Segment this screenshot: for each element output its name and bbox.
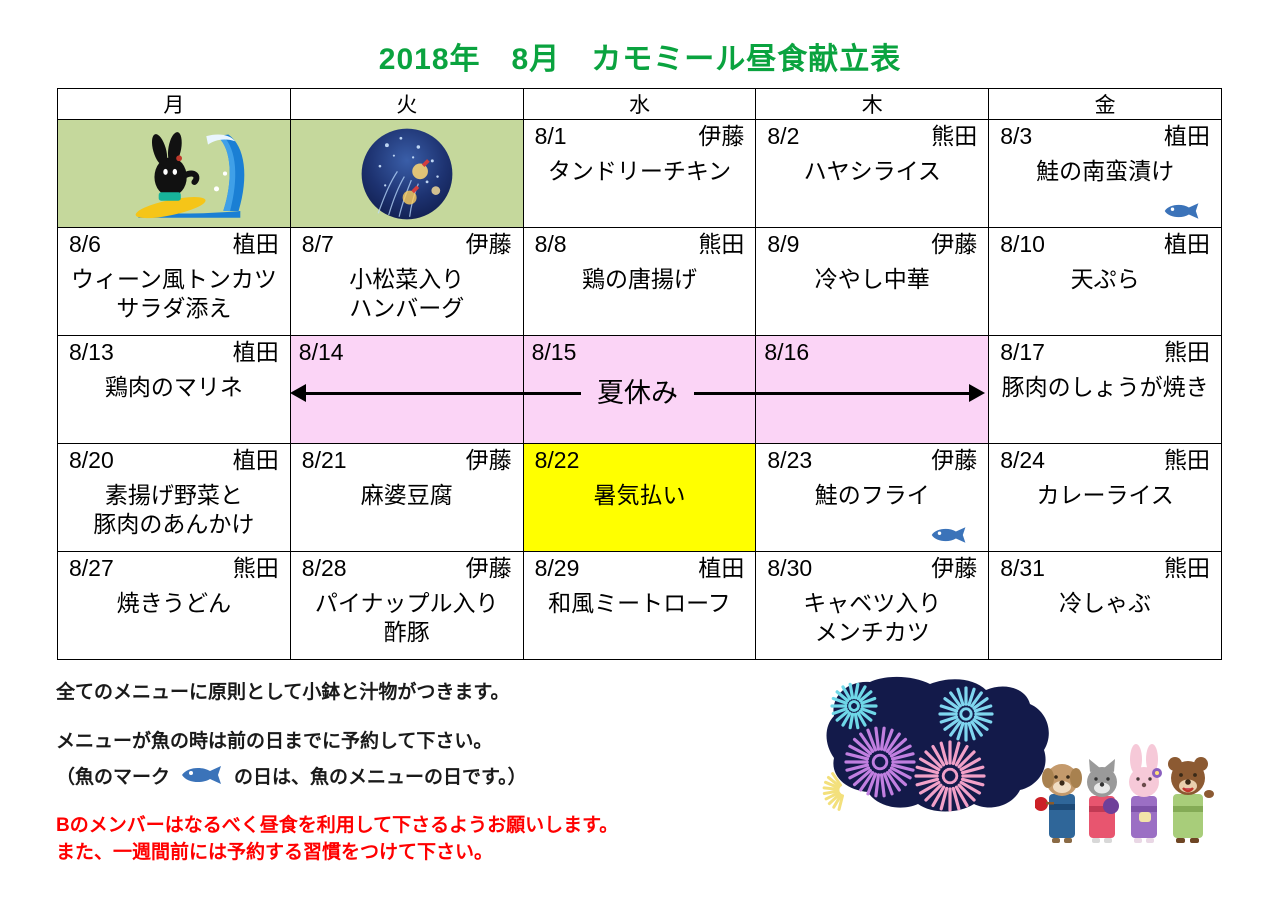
cell-header: 8/21伊藤 <box>291 444 523 475</box>
calendar-day-cell: 8/10植田天ぷら <box>989 228 1222 336</box>
calendar-day-cell: 8/21伊藤麻婆豆腐 <box>290 444 523 552</box>
calendar-day-cell: 8/7伊藤小松菜入り ハンバーグ <box>290 228 523 336</box>
cell-header: 8/24熊田 <box>989 444 1221 475</box>
calendar-day-cell: 8/30伊藤キャベツ入り メンチカツ <box>756 552 989 660</box>
cell-staff-name: 熊田 <box>233 554 279 583</box>
cell-staff-name: 植田 <box>233 446 279 475</box>
calendar-week-row: 8/20植田素揚げ野菜と 豚肉のあんかけ8/21伊藤麻婆豆腐8/22暑気払い8/… <box>58 444 1222 552</box>
calendar-day-cell: 8/16 <box>756 336 989 444</box>
cell-date: 8/22 <box>535 446 580 475</box>
cell-header: 8/31熊田 <box>989 552 1221 583</box>
cat-character <box>1087 759 1119 843</box>
calendar-day-cell: 8/17熊田豚肉のしょうが焼き <box>989 336 1222 444</box>
menu-calendar-table: 月 火 水 木 金 8/1伊藤タンドリーチキン8/2熊田ハヤシライス8/3植田鮭… <box>57 88 1222 660</box>
cell-header: 8/8熊田 <box>524 228 756 259</box>
fish-icon <box>1163 202 1201 220</box>
footer-notes: 全てのメニューに原則として小鉢と汁物がつきます。 メニューが魚の時は前の日までに… <box>56 680 816 867</box>
cell-header: 8/20植田 <box>58 444 290 475</box>
note-kobachi-shirumono: 全てのメニューに原則として小鉢と汁物がつきます。 <box>56 680 816 707</box>
cell-date: 8/3 <box>1000 122 1032 151</box>
cell-menu-text: ハヤシライス <box>756 151 988 186</box>
cell-staff-name: 植田 <box>1164 230 1210 259</box>
note-b-member-request: Bのメンバーはなるべく昼食を利用して下さるようお願いします。 また、一週間前には… <box>56 813 816 867</box>
cell-menu-text: カレーライス <box>989 475 1221 510</box>
weekday-header-fri: 金 <box>989 89 1222 120</box>
yukata-animals-illustration <box>1035 742 1235 852</box>
cell-header: 8/16 <box>756 336 988 367</box>
weekday-header-thu: 木 <box>756 89 989 120</box>
calendar-decorative-cell <box>58 120 291 228</box>
calendar-day-cell: 8/1伊藤タンドリーチキン <box>523 120 756 228</box>
cell-header: 8/9伊藤 <box>756 228 988 259</box>
calendar-day-cell: 8/3植田鮭の南蛮漬け <box>989 120 1222 228</box>
cell-header: 8/15 <box>524 336 756 367</box>
dog-character <box>1035 764 1082 843</box>
cell-date: 8/8 <box>535 230 567 259</box>
cell-staff-name: 熊田 <box>1164 338 1210 367</box>
cell-date: 8/15 <box>532 338 577 367</box>
cell-staff-name: 熊田 <box>1164 554 1210 583</box>
cell-header: 8/27熊田 <box>58 552 290 583</box>
cell-header: 8/2熊田 <box>756 120 988 151</box>
cell-header: 8/6植田 <box>58 228 290 259</box>
surfing-rabbit-illustration <box>58 120 290 227</box>
calendar-day-cell: 8/23伊藤鮭のフライ <box>756 444 989 552</box>
cell-header: 8/7伊藤 <box>291 228 523 259</box>
calendar-day-cell: 8/8熊田鶏の唐揚げ <box>523 228 756 336</box>
weekday-header-row: 月 火 水 木 金 <box>58 89 1222 120</box>
calendar-day-cell: 8/14 <box>290 336 523 444</box>
cell-header: 8/30伊藤 <box>756 552 988 583</box>
cell-staff-name: 伊藤 <box>466 230 512 259</box>
calendar-day-cell: 8/29植田和風ミートローフ <box>523 552 756 660</box>
cell-menu-text <box>524 367 756 373</box>
cell-staff-name: 伊藤 <box>931 446 977 475</box>
calendar-day-cell: 8/15 <box>523 336 756 444</box>
cell-date: 8/17 <box>1000 338 1045 367</box>
note-fish-mark-prefix: （魚のマーク <box>56 762 170 789</box>
fireworks-night-circle-illustration <box>291 120 523 227</box>
cell-menu-text: 豚肉のしょうが焼き <box>989 367 1221 402</box>
cell-staff-name: 熊田 <box>931 122 977 151</box>
cell-date: 8/27 <box>69 554 114 583</box>
cell-menu-text: 天ぷら <box>989 259 1221 294</box>
cell-header: 8/28伊藤 <box>291 552 523 583</box>
fish-icon <box>930 526 968 544</box>
cell-date: 8/7 <box>302 230 334 259</box>
cell-menu-text: 小松菜入り ハンバーグ <box>291 259 523 323</box>
calendar-day-cell: 8/6植田ウィーン風トンカツ サラダ添え <box>58 228 291 336</box>
cell-menu-text: 鮭のフライ <box>756 475 988 510</box>
cell-date: 8/2 <box>767 122 799 151</box>
cell-date: 8/30 <box>767 554 812 583</box>
cell-menu-text: 暑気払い <box>524 475 756 510</box>
cell-menu-text: キャベツ入り メンチカツ <box>756 583 988 647</box>
cell-date: 8/1 <box>535 122 567 151</box>
cell-date: 8/29 <box>535 554 580 583</box>
page-title: 2018年 8月 カモミール昼食献立表 <box>0 34 1280 78</box>
calendar-day-cell: 8/20植田素揚げ野菜と 豚肉のあんかけ <box>58 444 291 552</box>
cell-staff-name: 熊田 <box>1164 446 1210 475</box>
cell-header: 8/13植田 <box>58 336 290 367</box>
cell-menu-text: 焼きうどん <box>58 583 290 618</box>
cell-staff-name: 植田 <box>233 230 279 259</box>
cell-date: 8/31 <box>1000 554 1045 583</box>
calendar-decorative-cell <box>290 120 523 228</box>
calendar-day-cell: 8/13植田鶏肉のマリネ <box>58 336 291 444</box>
cell-date: 8/10 <box>1000 230 1045 259</box>
cell-staff-name: 熊田 <box>698 230 744 259</box>
cell-date: 8/24 <box>1000 446 1045 475</box>
fish-icon <box>180 765 224 785</box>
weekday-header-wed: 水 <box>523 89 756 120</box>
cell-staff-name: 伊藤 <box>466 446 512 475</box>
calendar-day-cell: 8/9伊藤冷やし中華 <box>756 228 989 336</box>
cell-date: 8/6 <box>69 230 101 259</box>
cell-date: 8/20 <box>69 446 114 475</box>
calendar-day-cell: 8/22暑気払い <box>523 444 756 552</box>
cell-menu-text <box>756 367 988 373</box>
cell-menu-text: 鶏肉のマリネ <box>58 367 290 402</box>
cell-staff-name: 伊藤 <box>698 122 744 151</box>
cell-date: 8/21 <box>302 446 347 475</box>
calendar-week-row: 8/6植田ウィーン風トンカツ サラダ添え8/7伊藤小松菜入り ハンバーグ8/8熊… <box>58 228 1222 336</box>
weekday-header-tue: 火 <box>290 89 523 120</box>
cell-menu-text: 鮭の南蛮漬け <box>989 151 1221 186</box>
calendar-day-cell: 8/24熊田カレーライス <box>989 444 1222 552</box>
cell-menu-text: ウィーン風トンカツ サラダ添え <box>58 259 290 323</box>
bear-character <box>1168 757 1214 843</box>
cell-menu-text: タンドリーチキン <box>524 151 756 186</box>
cell-menu-text: 冷しゃぶ <box>989 583 1221 618</box>
calendar-day-cell: 8/2熊田ハヤシライス <box>756 120 989 228</box>
cell-menu-text: パイナップル入り 酢豚 <box>291 583 523 647</box>
cell-header: 8/1伊藤 <box>524 120 756 151</box>
calendar-week-row: 8/1伊藤タンドリーチキン8/2熊田ハヤシライス8/3植田鮭の南蛮漬け <box>58 120 1222 228</box>
cell-staff-name: 植田 <box>698 554 744 583</box>
calendar-week-row: 8/27熊田焼きうどん8/28伊藤パイナップル入り 酢豚8/29植田和風ミートロ… <box>58 552 1222 660</box>
cell-date: 8/28 <box>302 554 347 583</box>
cell-header: 8/10植田 <box>989 228 1221 259</box>
note-fish-reservation: メニューが魚の時は前の日までに予約して下さい。 <box>56 729 816 756</box>
cell-staff-name: 植田 <box>233 338 279 367</box>
calendar-day-cell: 8/28伊藤パイナップル入り 酢豚 <box>290 552 523 660</box>
cell-header: 8/22 <box>524 444 756 475</box>
cell-staff-name: 伊藤 <box>931 554 977 583</box>
weekday-header-mon: 月 <box>58 89 291 120</box>
calendar-body: 8/1伊藤タンドリーチキン8/2熊田ハヤシライス8/3植田鮭の南蛮漬け8/6植田… <box>58 120 1222 660</box>
cell-staff-name: 伊藤 <box>931 230 977 259</box>
calendar-week-row: 8/13植田鶏肉のマリネ8/148/158/168/17熊田豚肉のしょうが焼き <box>58 336 1222 444</box>
cell-staff-name: 植田 <box>1164 122 1210 151</box>
cell-staff-name: 伊藤 <box>466 554 512 583</box>
cell-date: 8/14 <box>299 338 344 367</box>
cell-menu-text: 麻婆豆腐 <box>291 475 523 510</box>
note-fish-mark-suffix: の日は、魚のメニューの日です。） <box>234 762 527 789</box>
cell-date: 8/16 <box>764 338 809 367</box>
cell-header: 8/29植田 <box>524 552 756 583</box>
cell-date: 8/23 <box>767 446 812 475</box>
cell-date: 8/13 <box>69 338 114 367</box>
cell-menu-text: 鶏の唐揚げ <box>524 259 756 294</box>
rabbit-character <box>1129 744 1162 843</box>
cell-header: 8/17熊田 <box>989 336 1221 367</box>
cell-header: 8/3植田 <box>989 120 1221 151</box>
cell-menu-text <box>291 367 523 373</box>
calendar-day-cell: 8/31熊田冷しゃぶ <box>989 552 1222 660</box>
cell-header: 8/23伊藤 <box>756 444 988 475</box>
cell-menu-text: 和風ミートローフ <box>524 583 756 618</box>
cell-date: 8/9 <box>767 230 799 259</box>
calendar-day-cell: 8/27熊田焼きうどん <box>58 552 291 660</box>
cell-menu-text: 素揚げ野菜と 豚肉のあんかけ <box>58 475 290 539</box>
cell-menu-text: 冷やし中華 <box>756 259 988 294</box>
note-fish-mark-explanation: （魚のマーク の日は、魚のメニューの日です。） <box>56 762 816 789</box>
cell-header: 8/14 <box>291 336 523 367</box>
